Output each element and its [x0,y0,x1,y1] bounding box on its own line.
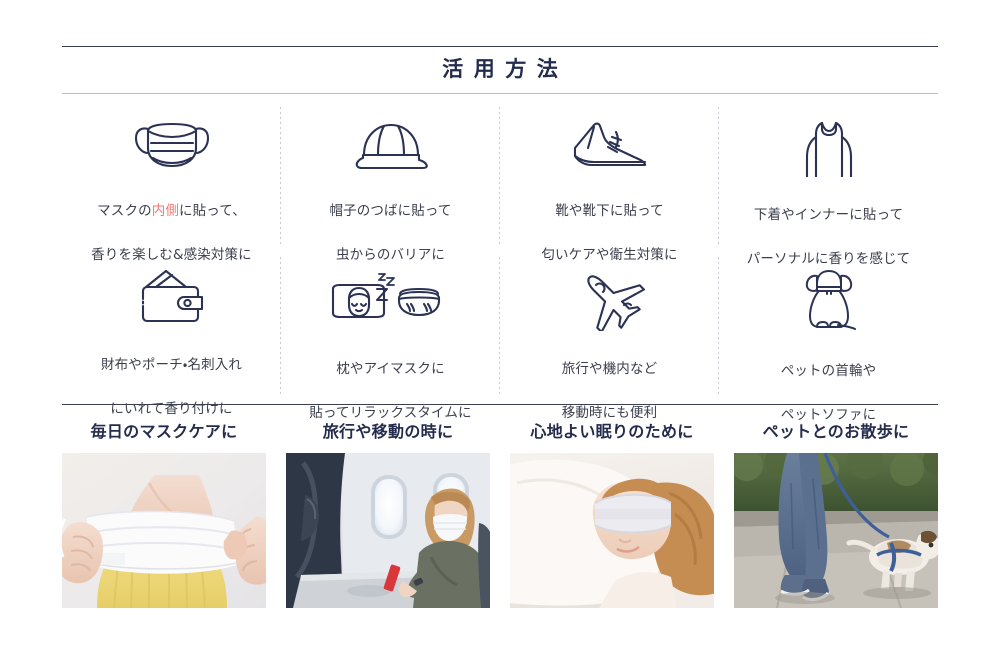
caption-line1: 下着やインナーに貼って [754,207,903,223]
wallet-icon [132,265,212,327]
caption-line2: にいれて香り付けに [110,401,232,417]
usage-cell-travel: 旅行や機内など 移動時にも便利 [500,251,719,401]
caption-line1-post: に貼って、 [179,203,246,219]
caption-highlight: 内側 [152,203,179,219]
usage-cell-pet: ペットの首輪や ペットソファに [719,251,938,401]
usage-grid: マスクの内側に貼って、 香りを楽しむ&感染対策に 帽子のつばに貼って 虫からのバ… [62,101,938,401]
usage-caption-travel: 旅行や機内など 移動時にも便利 [562,337,657,424]
photo-title: 旅行や移動の時に [323,418,454,442]
photo-cell-mask-care: 毎日のマスクケアに [62,418,266,608]
photo-cell-travel: 旅行や移動の時に [286,418,490,608]
caption-line1: 帽子のつばに貼って [329,203,451,219]
caption-line1: 財布やポーチ・名刺入れ [101,357,242,373]
usage-caption-pet: ペットの首輪や ペットソファに [781,339,876,426]
usage-cell-cap: 帽子のつばに貼って 虫からのバリアに [281,101,500,251]
page-title: 活用方法 [62,47,938,93]
sneaker-shoe-icon [566,115,654,173]
title-bottom-rule [62,93,938,94]
hands-holding-white-mask-photo [62,453,266,608]
photo-row: 毎日のマスクケアに [62,418,938,608]
caption-line1-pre: マスクの [97,203,152,219]
usage-cell-mask: マスクの内側に貼って、 香りを楽しむ&感染対策に [62,101,281,251]
photo-cell-pet-walk: ペットとのお散歩に [734,418,938,608]
tank-top-icon [796,115,862,177]
cap-hat-icon [350,115,432,173]
woman-in-airplane-seat-photo [286,453,490,608]
face-mask-icon [129,115,215,173]
airplane-icon [572,265,648,331]
usage-cell-wallet: 財布やポーチ・名刺入れ にいれて香り付けに [62,251,281,401]
dog-walking-on-leash-photo [734,453,938,608]
caption-line1: ペットの首輪や [781,363,876,379]
title-block: 活用方法 [62,46,938,94]
photo-title: 心地よい眠りのために [530,418,693,442]
usage-cell-innerwear: 下着やインナーに貼って パーソナルに香りを感じて [719,101,938,251]
photo-title: ペットとのお散歩に [763,418,910,442]
usage-guide-page: 活用方法 マスクの内側に貼って、 香りを楽しむ&感染対策に [0,0,1000,665]
usage-cell-sleep: 枕やアイマスクに 貼ってリラックスタイムに [281,251,500,401]
photo-title: 毎日のマスクケアに [91,418,238,442]
caption-line1: 枕やアイマスクに [336,361,444,377]
caption-line1: 旅行や機内など [562,361,657,377]
photo-cell-sleep: 心地よい眠りのために [510,418,714,608]
pillow-sleep-mask-icon [327,265,455,331]
photos-top-rule [62,404,938,405]
woman-sleeping-with-eye-mask-photo [510,453,714,608]
dog-collar-icon [797,265,861,333]
usage-caption-sleep: 枕やアイマスクに 貼ってリラックスタイムに [309,337,471,424]
usage-caption-wallet: 財布やポーチ・名刺入れ にいれて香り付けに [101,333,242,420]
caption-line1: 靴や靴下に貼って [555,203,663,219]
usage-cell-shoe: 靴や靴下に貼って 匂いケアや衛生対策に [500,101,719,251]
